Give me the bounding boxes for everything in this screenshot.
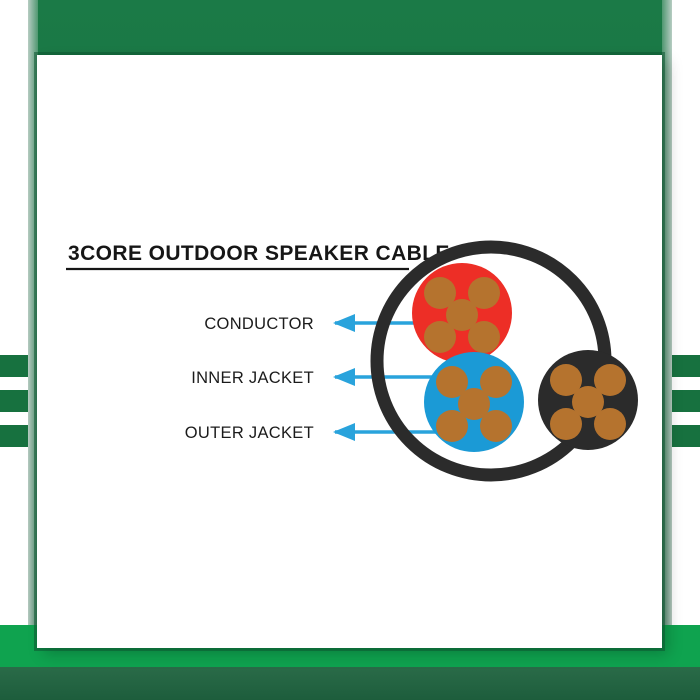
core-black-strand-4 xyxy=(550,408,582,440)
core-red-strand-5 xyxy=(468,321,500,353)
stripe-right-1 xyxy=(672,355,700,377)
stripe-left-1 xyxy=(0,355,28,377)
label-inner-jacket: INNER JACKET xyxy=(191,369,314,387)
core-blue-strand-5 xyxy=(480,410,512,442)
stripe-left-3 xyxy=(0,425,28,447)
diagram-title: 3CORE OUTDOOR SPEAKER CABLE xyxy=(68,242,450,265)
stripe-left-2 xyxy=(0,390,28,412)
arrowhead-outer-jacket-icon xyxy=(333,423,355,441)
arrowhead-inner-jacket-icon xyxy=(333,368,355,386)
right-stripe-panel xyxy=(672,0,700,625)
background-green-footer xyxy=(0,667,700,700)
arrowhead-conductor-icon xyxy=(333,314,355,332)
core-black xyxy=(538,350,638,450)
core-red xyxy=(412,263,512,363)
core-black-strand-5 xyxy=(594,408,626,440)
stripe-right-2 xyxy=(672,390,700,412)
product-diagram-image: 3CORE OUTDOOR SPEAKER CABLE CONDUCTOR xyxy=(0,0,700,700)
left-stripe-panel xyxy=(0,0,28,625)
cable-cross-section-diagram: 3CORE OUTDOOR SPEAKER CABLE CONDUCTOR xyxy=(37,55,662,648)
core-blue xyxy=(424,352,524,452)
core-red-strand-4 xyxy=(424,321,456,353)
core-blue-strand-4 xyxy=(436,410,468,442)
leader-line-outer-jacket xyxy=(333,423,441,441)
stripe-right-3 xyxy=(672,425,700,447)
cable-assembly xyxy=(377,247,638,475)
label-conductor: CONDUCTOR xyxy=(204,315,314,333)
right-edge-shadow xyxy=(662,0,672,625)
label-outer-jacket: OUTER JACKET xyxy=(185,424,314,442)
white-content-card: 3CORE OUTDOOR SPEAKER CABLE CONDUCTOR xyxy=(37,55,662,648)
